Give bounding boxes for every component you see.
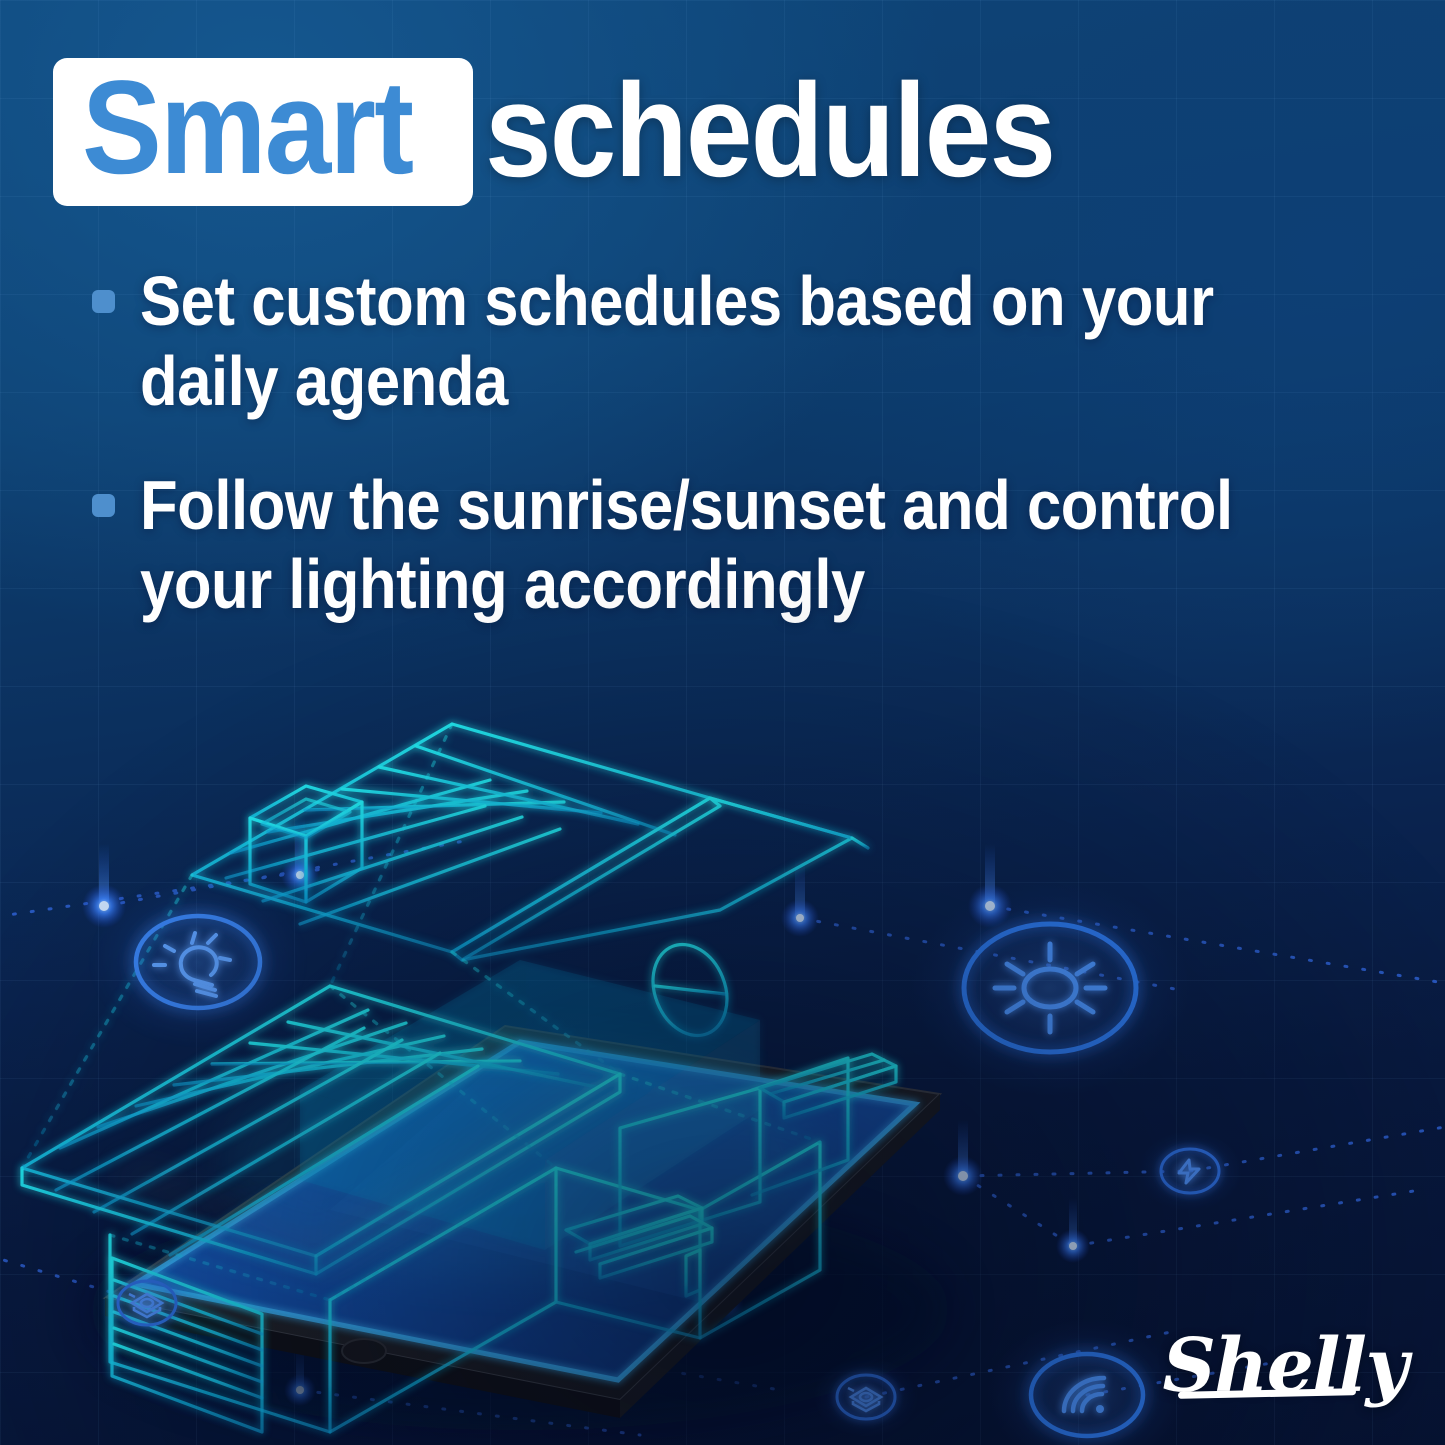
scene-vignette — [0, 0, 1445, 1445]
promo-card: Smart schedules Set custom schedules bas… — [0, 0, 1445, 1445]
shelly-logo: Shelly — [1162, 1329, 1407, 1403]
